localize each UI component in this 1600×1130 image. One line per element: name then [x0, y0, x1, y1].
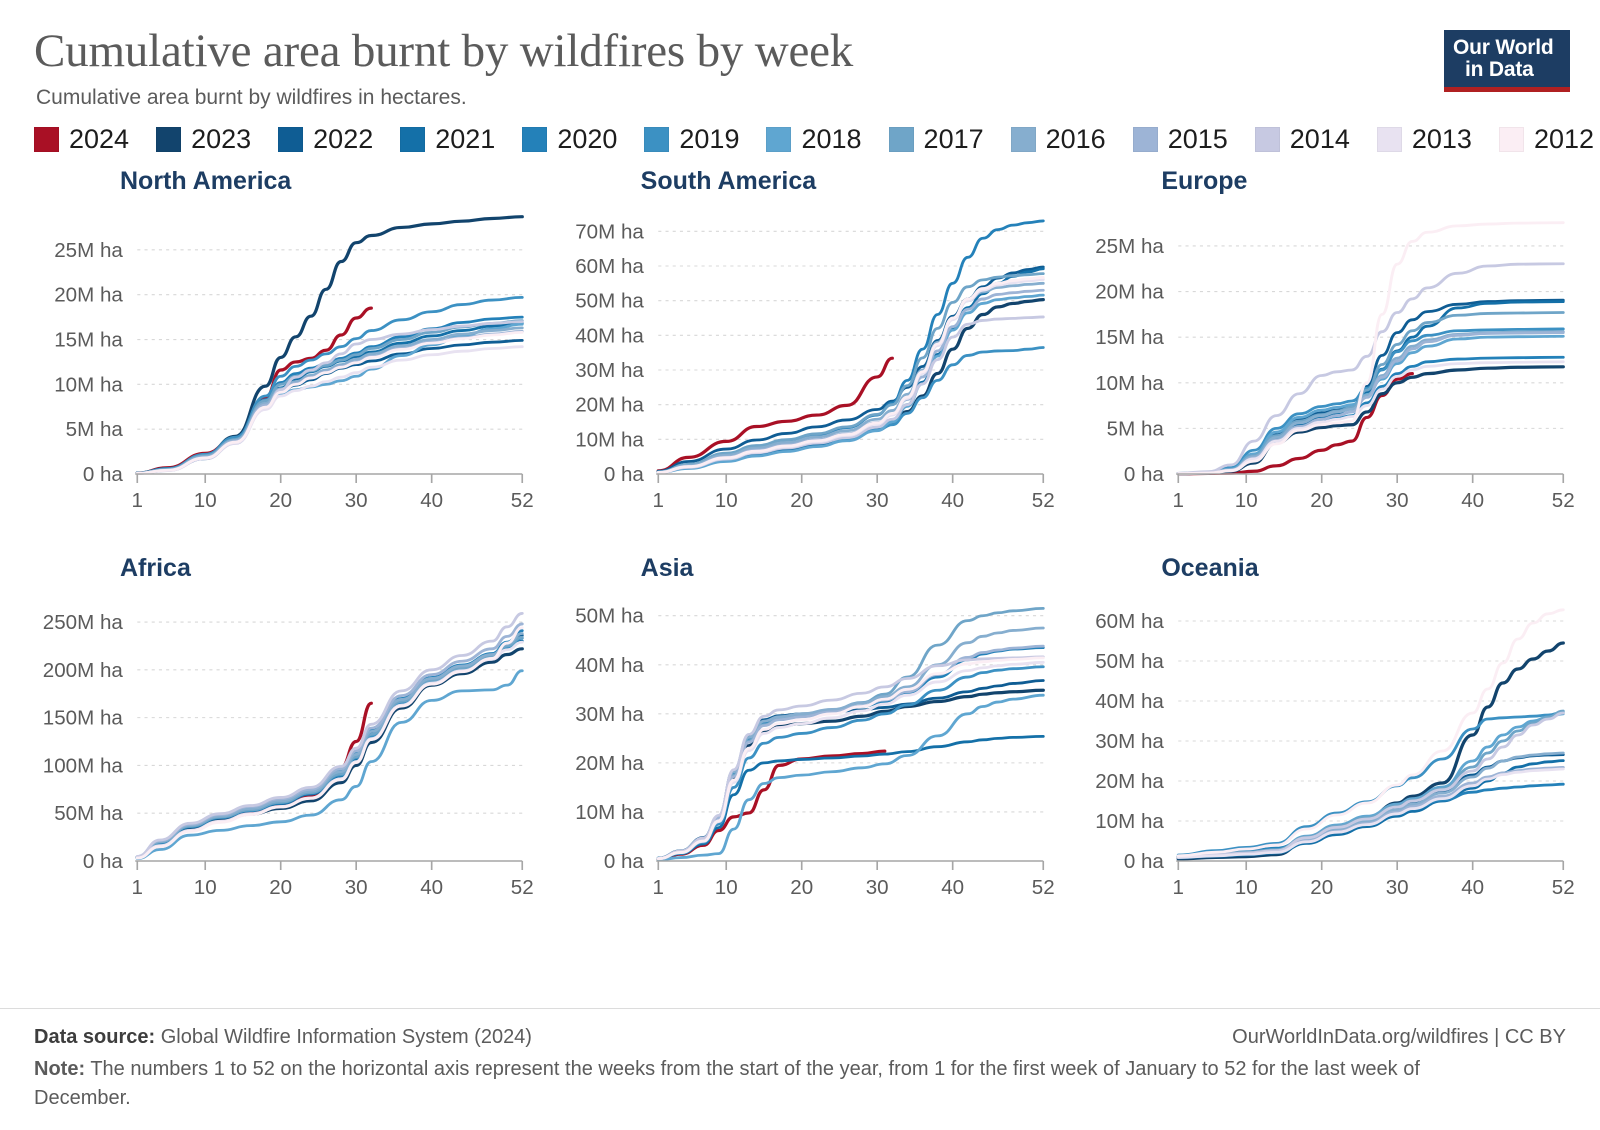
legend-label: 2017 [924, 124, 984, 155]
y-tick-label: 5M ha [66, 419, 124, 441]
x-tick-label: 40 [1462, 490, 1485, 512]
attribution-link[interactable]: OurWorldInData.org/wildfires | CC BY [1232, 1026, 1566, 1049]
y-tick-label: 60M ha [1096, 611, 1165, 633]
legend-label: 2019 [679, 124, 739, 155]
y-tick-label: 60M ha [575, 256, 644, 278]
plot-area: 0 ha5M ha10M ha15M ha20M ha25M ha1102030… [1063, 200, 1578, 520]
y-tick-label: 30M ha [1096, 731, 1165, 753]
x-tick-label: 1 [132, 490, 143, 512]
series-line-2014[interactable] [137, 613, 522, 856]
series-line-2017[interactable] [1179, 711, 1564, 857]
panel-title: Europe [1161, 167, 1578, 196]
y-tick-label: 100M ha [43, 755, 124, 777]
panel-europe: Europe0 ha5M ha10M ha15M ha20M ha25M ha1… [1063, 167, 1578, 554]
x-tick-label: 1 [132, 877, 143, 899]
x-tick-label: 52 [1031, 877, 1054, 899]
chart-page: Cumulative area burnt by wildfires by we… [0, 0, 1600, 1130]
legend-item-2022[interactable]: 2022 [278, 124, 373, 155]
legend-swatch-2014 [1255, 127, 1280, 152]
x-tick-label: 40 [420, 490, 443, 512]
legend-swatch-2016 [1011, 127, 1036, 152]
legend-item-2013[interactable]: 2013 [1377, 124, 1472, 155]
panel-title: Africa [120, 554, 537, 583]
legend-swatch-2022 [278, 127, 303, 152]
x-tick-label: 30 [345, 490, 368, 512]
legend-swatch-2019 [644, 127, 669, 152]
legend-label: 2014 [1290, 124, 1350, 155]
legend-item-2020[interactable]: 2020 [522, 124, 617, 155]
legend-item-2017[interactable]: 2017 [889, 124, 984, 155]
data-source: Data source: Global Wildfire Information… [34, 1023, 532, 1051]
x-tick-label: 40 [1462, 877, 1485, 899]
panel-south-america: South America0 ha10M ha20M ha30M ha40M h… [543, 167, 1058, 554]
legend-label: 2013 [1412, 124, 1472, 155]
y-tick-label: 0 ha [1124, 851, 1165, 873]
x-tick-label: 1 [1173, 490, 1184, 512]
legend-swatch-2013 [1377, 127, 1402, 152]
chart-legend: 2024202320222021202020192018201720162015… [0, 110, 1600, 155]
series-line-2023[interactable] [658, 299, 1043, 471]
y-tick-label: 20M ha [1096, 282, 1165, 304]
x-tick-label: 20 [790, 877, 813, 899]
x-tick-label: 52 [1031, 490, 1054, 512]
y-tick-label: 25M ha [54, 240, 123, 262]
owid-logo-line1: Our World [1453, 37, 1561, 59]
y-tick-label: 0 ha [83, 851, 124, 873]
chart-footer: Data source: Global Wildfire Information… [0, 1008, 1600, 1112]
panel-title: Oceania [1161, 554, 1578, 583]
series-line-2018[interactable] [658, 695, 1043, 860]
panel-africa: Africa0 ha50M ha100M ha150M ha200M ha250… [22, 554, 537, 941]
chart-header: Cumulative area burnt by wildfires by we… [0, 0, 1600, 110]
y-tick-label: 10M ha [1096, 373, 1165, 395]
x-tick-label: 30 [1386, 490, 1409, 512]
y-tick-label: 20M ha [54, 285, 123, 307]
series-line-2012[interactable] [1179, 222, 1564, 473]
legend-swatch-2012 [1499, 127, 1524, 152]
y-tick-label: 0 ha [83, 464, 124, 486]
legend-label: 2020 [557, 124, 617, 155]
y-tick-label: 10M ha [575, 802, 644, 824]
x-tick-label: 40 [941, 490, 964, 512]
series-line-2018[interactable] [1179, 714, 1564, 857]
chart-note-value: The numbers 1 to 52 on the horizontal ax… [34, 1058, 1420, 1108]
x-tick-label: 20 [269, 490, 292, 512]
legend-swatch-2021 [400, 127, 425, 152]
y-tick-label: 150M ha [43, 708, 124, 730]
legend-item-2014[interactable]: 2014 [1255, 124, 1350, 155]
legend-item-2016[interactable]: 2016 [1011, 124, 1106, 155]
y-tick-label: 15M ha [54, 330, 123, 352]
y-tick-label: 0 ha [603, 851, 644, 873]
x-tick-label: 10 [714, 490, 737, 512]
series-line-2013[interactable] [1179, 769, 1564, 858]
y-tick-label: 50M ha [54, 803, 123, 825]
legend-label: 2024 [69, 124, 129, 155]
y-tick-label: 30M ha [575, 704, 644, 726]
plot-area: 0 ha10M ha20M ha30M ha40M ha50M ha60M ha… [1063, 587, 1578, 907]
x-tick-label: 52 [1552, 877, 1575, 899]
y-tick-label: 50M ha [575, 606, 644, 628]
x-tick-label: 20 [1311, 877, 1334, 899]
y-tick-label: 15M ha [1096, 327, 1165, 349]
y-tick-label: 10M ha [575, 429, 644, 451]
plot-area: 0 ha5M ha10M ha15M ha20M ha25M ha1102030… [22, 200, 537, 520]
owid-logo[interactable]: Our World in Data [1444, 30, 1570, 92]
chart-note-label: Note: [34, 1058, 85, 1080]
panel-title: Asia [641, 554, 1058, 583]
data-source-label: Data source: [34, 1026, 155, 1048]
y-tick-label: 30M ha [575, 360, 644, 382]
series-line-2024[interactable] [137, 308, 371, 473]
panel-title: North America [120, 167, 537, 196]
legend-swatch-2020 [522, 127, 547, 152]
x-tick-label: 30 [865, 490, 888, 512]
y-tick-label: 40M ha [575, 655, 644, 677]
legend-swatch-2018 [766, 127, 791, 152]
y-tick-label: 40M ha [575, 325, 644, 347]
y-tick-label: 250M ha [43, 612, 124, 634]
x-tick-label: 10 [1235, 490, 1258, 512]
legend-item-2023[interactable]: 2023 [156, 124, 251, 155]
x-tick-label: 30 [345, 877, 368, 899]
y-tick-label: 10M ha [1096, 811, 1165, 833]
chart-panel-grid: North America0 ha5M ha10M ha15M ha20M ha… [0, 155, 1600, 941]
y-tick-label: 0 ha [603, 464, 644, 486]
legend-item-2019[interactable]: 2019 [644, 124, 739, 155]
chart-note: Note: The numbers 1 to 52 on the horizon… [34, 1055, 1454, 1112]
legend-swatch-2023 [156, 127, 181, 152]
legend-label: 2016 [1046, 124, 1106, 155]
x-tick-label: 20 [790, 490, 813, 512]
y-tick-label: 50M ha [575, 291, 644, 313]
x-tick-label: 10 [194, 490, 217, 512]
x-tick-label: 10 [194, 877, 217, 899]
x-tick-label: 10 [1235, 877, 1258, 899]
y-tick-label: 20M ha [575, 395, 644, 417]
legend-label: 2012 [1534, 124, 1594, 155]
legend-label: 2021 [435, 124, 495, 155]
legend-label: 2022 [313, 124, 373, 155]
legend-swatch-2017 [889, 127, 914, 152]
x-tick-label: 20 [269, 877, 292, 899]
x-tick-label: 52 [511, 490, 534, 512]
plot-area: 0 ha10M ha20M ha30M ha40M ha50M ha60M ha… [543, 200, 1058, 520]
panel-asia: Asia0 ha10M ha20M ha30M ha40M ha50M ha11… [543, 554, 1058, 941]
legend-label: 2018 [801, 124, 861, 155]
x-tick-label: 1 [1173, 877, 1184, 899]
legend-swatch-2024 [34, 127, 59, 152]
x-tick-label: 30 [1386, 877, 1409, 899]
panel-north-america: North America0 ha5M ha10M ha15M ha20M ha… [22, 167, 537, 554]
panel-oceania: Oceania0 ha10M ha20M ha30M ha40M ha50M h… [1063, 554, 1578, 941]
page-title: Cumulative area burnt by wildfires by we… [34, 26, 1566, 77]
y-tick-label: 200M ha [43, 660, 124, 682]
legend-swatch-2015 [1133, 127, 1158, 152]
y-tick-label: 0 ha [1124, 464, 1165, 486]
series-line-2022[interactable] [1179, 754, 1564, 856]
x-tick-label: 40 [420, 877, 443, 899]
legend-item-2015[interactable]: 2015 [1133, 124, 1228, 155]
y-tick-label: 20M ha [575, 753, 644, 775]
panel-title: South America [641, 167, 1058, 196]
plot-area: 0 ha50M ha100M ha150M ha200M ha250M ha11… [22, 587, 537, 907]
legend-item-2012[interactable]: 2012 [1499, 124, 1594, 155]
series-line-2020[interactable] [137, 317, 522, 473]
y-tick-label: 25M ha [1096, 236, 1165, 258]
y-tick-label: 10M ha [54, 374, 123, 396]
y-tick-label: 70M ha [575, 221, 644, 243]
series-line-2016[interactable] [1179, 753, 1564, 857]
x-tick-label: 52 [511, 877, 534, 899]
legend-item-2018[interactable]: 2018 [766, 124, 861, 155]
legend-label: 2023 [191, 124, 251, 155]
legend-item-2021[interactable]: 2021 [400, 124, 495, 155]
x-tick-label: 30 [865, 877, 888, 899]
x-tick-label: 10 [714, 877, 737, 899]
x-tick-label: 40 [941, 877, 964, 899]
x-tick-label: 1 [652, 877, 663, 899]
owid-logo-line2: in Data [1453, 59, 1561, 81]
y-tick-label: 20M ha [1096, 771, 1165, 793]
y-tick-label: 50M ha [1096, 651, 1165, 673]
x-tick-label: 1 [652, 490, 663, 512]
data-source-value: Global Wildfire Information System (2024… [161, 1026, 532, 1048]
x-tick-label: 20 [1311, 490, 1334, 512]
plot-area: 0 ha10M ha20M ha30M ha40M ha50M ha110203… [543, 587, 1058, 907]
y-tick-label: 40M ha [1096, 691, 1165, 713]
legend-item-2024[interactable]: 2024 [34, 124, 129, 155]
page-subtitle: Cumulative area burnt by wildfires in he… [36, 86, 1566, 110]
y-tick-label: 5M ha [1107, 418, 1165, 440]
legend-label: 2015 [1168, 124, 1228, 155]
x-tick-label: 52 [1552, 490, 1575, 512]
